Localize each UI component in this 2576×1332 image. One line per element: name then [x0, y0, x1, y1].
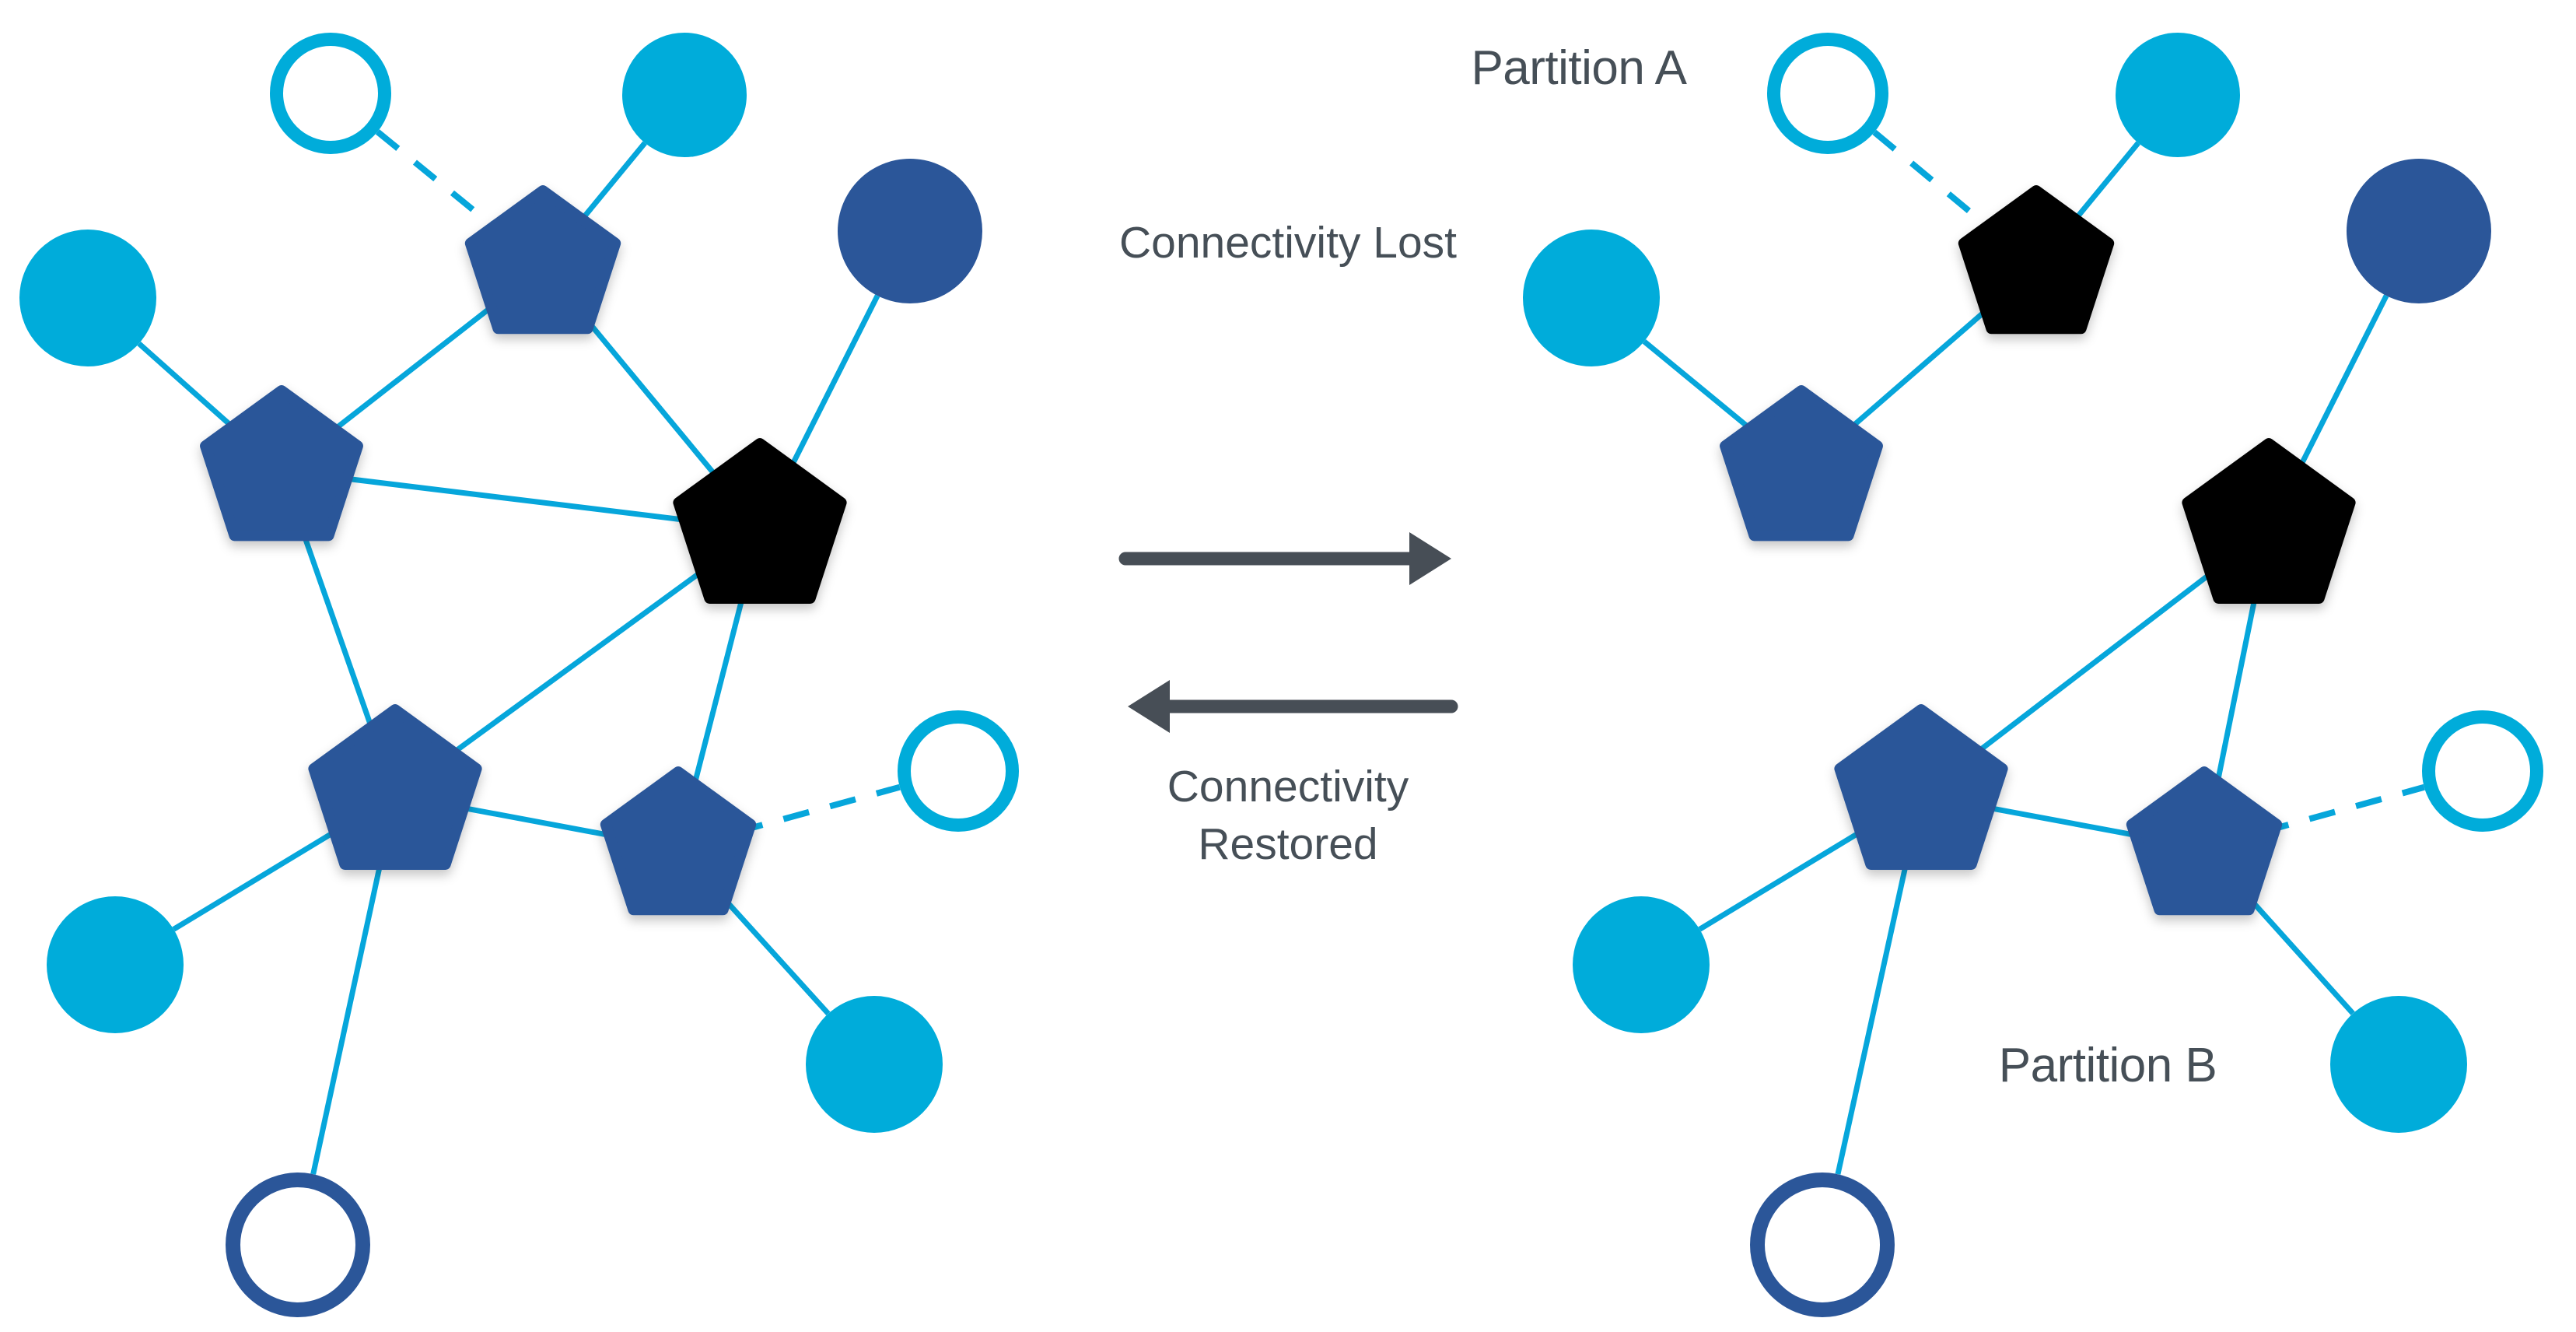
edge-dashed [1874, 132, 1990, 228]
edge-solid [313, 862, 381, 1174]
edge-dashed [737, 787, 900, 832]
edge-solid [332, 304, 495, 431]
transition-label-line: Connectivity Lost [1119, 218, 1457, 268]
label-partition-b: Partition B [1999, 1039, 2217, 1092]
node-pentagon[interactable] [2187, 443, 2350, 598]
diagram-canvas: Connectivity LostConnectivityRestored Pa… [0, 0, 2576, 1332]
edge-solid [719, 893, 828, 1014]
transition-label-line: Connectivity [1167, 762, 1409, 811]
node-circle[interactable] [2347, 159, 2491, 303]
edge-solid [1989, 808, 2144, 836]
node-circle-outline[interactable] [905, 717, 1013, 825]
node-circle[interactable] [19, 230, 156, 366]
node-circle[interactable] [1523, 230, 1660, 366]
edge-solid [1838, 862, 1906, 1174]
edge-solid [2075, 143, 2138, 220]
node-pentagon[interactable] [606, 772, 751, 910]
node-pentagon[interactable] [471, 191, 615, 328]
transition-connectivity-lost: Connectivity Lost [1119, 218, 1457, 585]
node-circle-outline[interactable] [1774, 40, 1882, 148]
transition-label-line: Restored [1198, 819, 1377, 869]
node-circle[interactable] [47, 896, 184, 1033]
node-circle[interactable] [806, 996, 943, 1133]
node-pentagon[interactable] [205, 391, 358, 535]
edge-solid [1850, 307, 1990, 429]
edge-dashed [377, 131, 495, 228]
edge-solid [450, 570, 705, 755]
edge-solid [1976, 570, 2214, 753]
node-circle[interactable] [2116, 33, 2240, 157]
node-circle-outline[interactable] [2429, 717, 2537, 825]
node-pentagon[interactable] [313, 710, 476, 864]
node-pentagon[interactable] [1725, 391, 1878, 535]
arrow-head-icon [1128, 680, 1170, 733]
edge-solid [582, 314, 716, 476]
edge-solid [791, 296, 878, 468]
node-circle[interactable] [838, 159, 982, 303]
network-partition-diagram: Connectivity LostConnectivityRestored Pa… [0, 0, 2576, 1332]
transition-connectivity-restored: ConnectivityRestored [1128, 680, 1451, 869]
node-circle-outline[interactable] [277, 40, 385, 148]
node-pentagon[interactable] [2132, 772, 2277, 910]
edge-solid [1699, 831, 1862, 930]
edge-solid [139, 344, 234, 429]
edge-solid [2217, 596, 2256, 788]
node-circle-outline[interactable] [233, 1180, 363, 1310]
node-pentagon[interactable] [1964, 191, 2109, 328]
edge-solid [2300, 296, 2387, 468]
edge-solid [463, 808, 618, 836]
edge-solid [693, 595, 743, 789]
node-pentagon[interactable] [1839, 710, 2002, 864]
node-circle[interactable] [1573, 896, 1710, 1033]
arrow-head-icon [1409, 532, 1451, 585]
edge-solid [173, 831, 336, 930]
label-partition-a: Partition A [1471, 41, 1687, 95]
node-pentagon[interactable] [678, 443, 841, 598]
edge-dashed [2263, 787, 2424, 832]
edge-solid [2245, 893, 2353, 1013]
edge-solid [345, 478, 692, 521]
node-circle[interactable] [622, 33, 747, 157]
edge-solid [582, 143, 645, 220]
node-circle[interactable] [2330, 996, 2467, 1133]
edge-solid [303, 531, 373, 731]
transitions-layer: Connectivity LostConnectivityRestored [1119, 218, 1457, 869]
edge-solid [1644, 342, 1752, 430]
node-circle-outline[interactable] [1758, 1180, 1888, 1310]
